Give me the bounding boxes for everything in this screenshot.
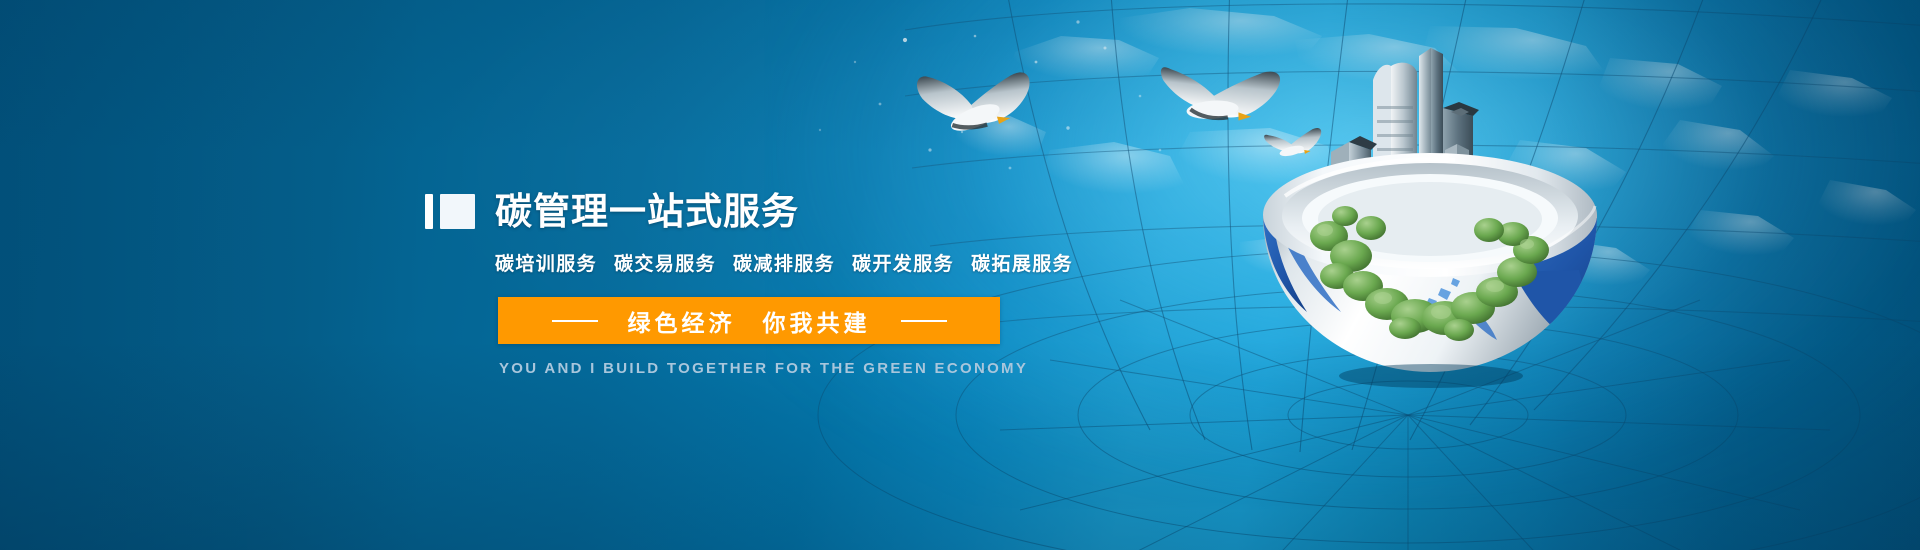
service-item[interactable]: 碳培训服务: [495, 249, 597, 276]
slogan-badge: 绿色经济 你我共建: [498, 297, 1000, 344]
service-item[interactable]: 碳开发服务: [852, 249, 954, 276]
badge-dash-right-icon: [901, 320, 947, 322]
hero-banner: 碳管理一站式服务 碳培训服务 碳交易服务 碳减排服务 碳开发服务 碳拓展服务 绿…: [0, 0, 1920, 550]
page-title: 碳管理一站式服务: [495, 193, 799, 230]
title-row: 碳管理一站式服务: [425, 190, 1065, 232]
service-item[interactable]: 碳减排服务: [733, 249, 835, 276]
english-tagline: YOU AND I BUILD TOGETHER FOR THE GREEN E…: [499, 360, 1065, 377]
service-item[interactable]: 碳交易服务: [614, 249, 716, 276]
slogan-text: 绿色经济 你我共建: [628, 304, 871, 338]
globe-shadow: [1339, 364, 1523, 388]
globe-bowl: [1263, 153, 1597, 372]
service-item[interactable]: 碳拓展服务: [971, 249, 1073, 276]
banner-content: 碳管理一站式服务 碳培训服务 碳交易服务 碳减排服务 碳开发服务 碳拓展服务 绿…: [425, 190, 1065, 377]
decorative-mark-icon: [425, 194, 475, 229]
service-list: 碳培训服务 碳交易服务 碳减排服务 碳开发服务 碳拓展服务: [495, 249, 1065, 276]
mark-square-icon: [440, 194, 475, 229]
badge-dash-left-icon: [552, 320, 598, 322]
mark-bar-icon: [425, 194, 433, 229]
globe-city-illustration: [1245, 20, 1615, 395]
